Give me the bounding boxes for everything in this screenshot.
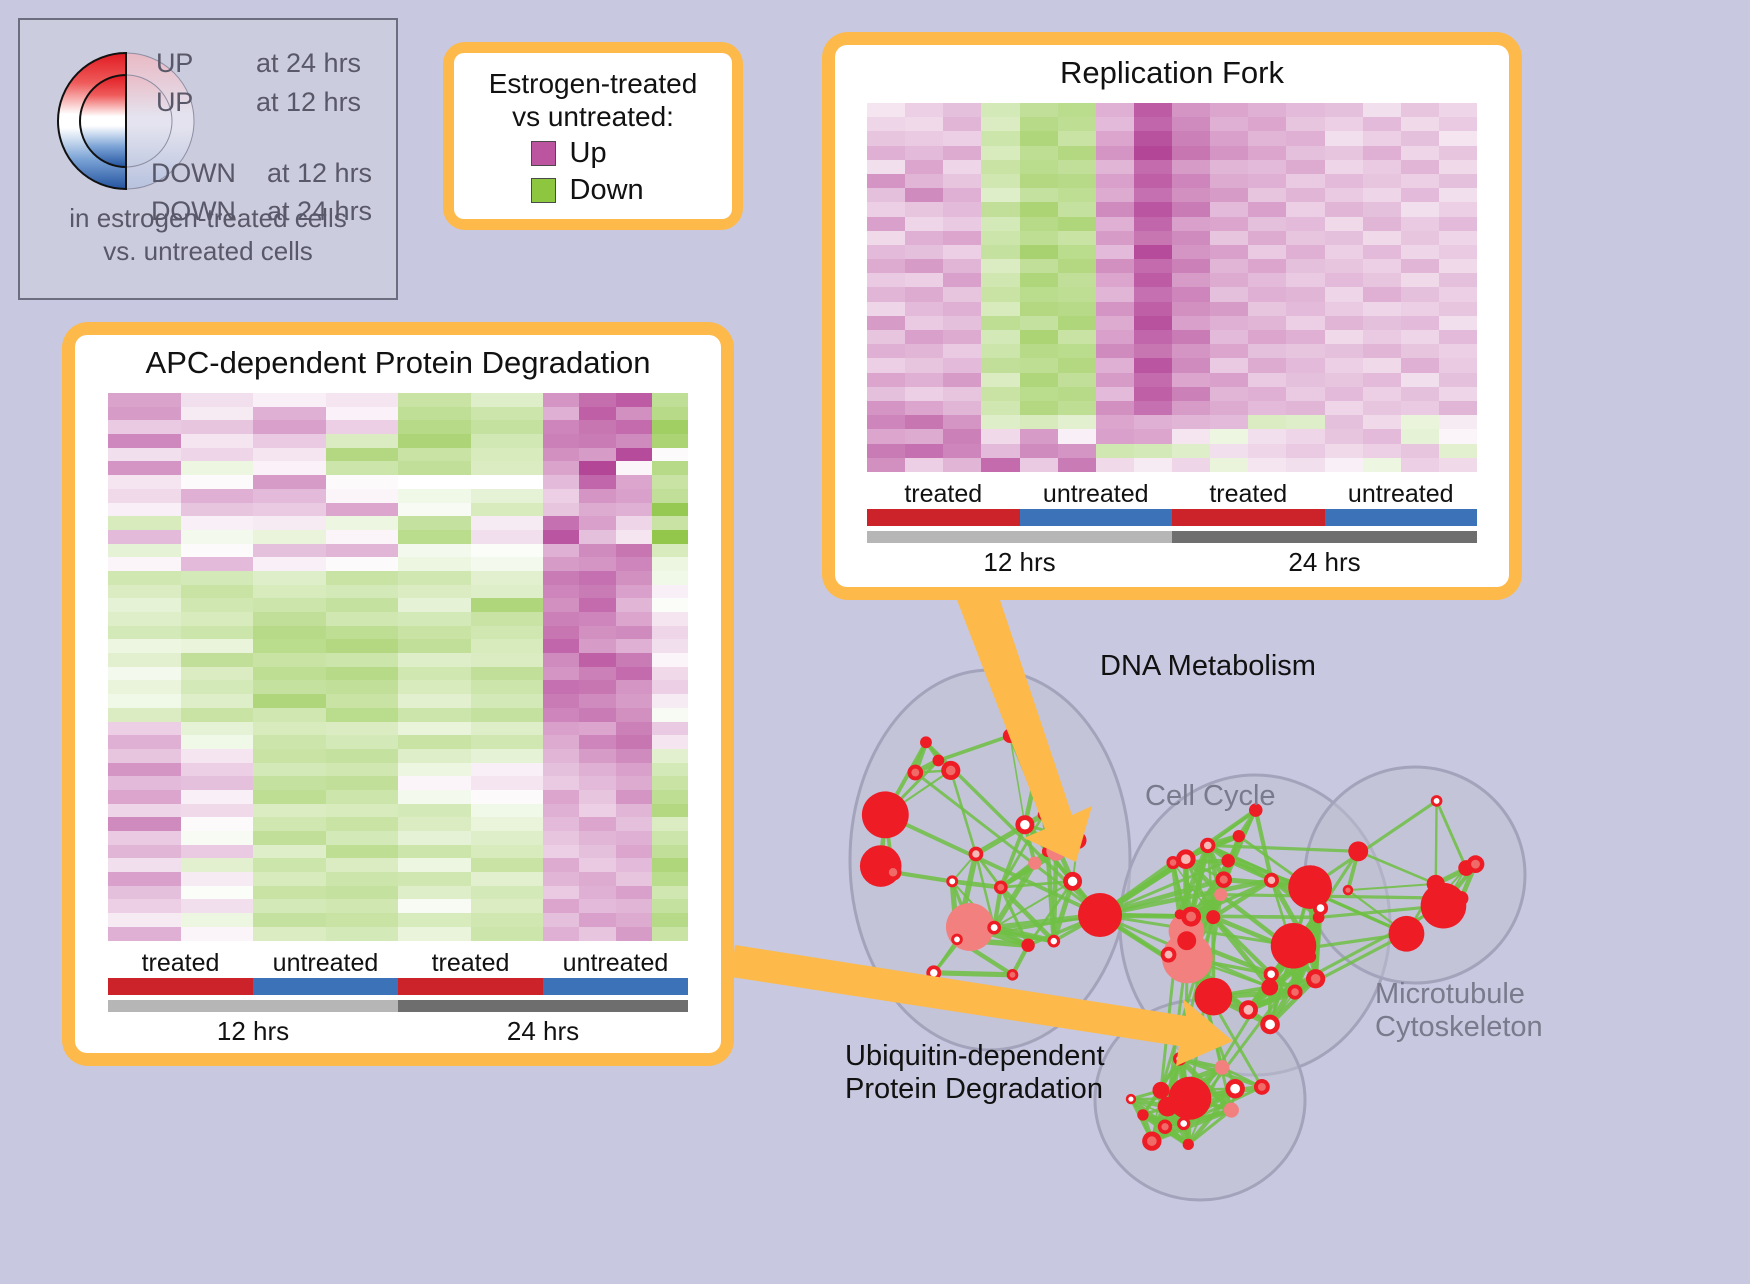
heatmap-cell [434, 776, 470, 790]
heatmap-cell [867, 401, 905, 415]
heatmap-cell [108, 489, 144, 503]
network-node [1183, 1139, 1194, 1150]
heatmap-cell [1020, 259, 1058, 273]
heatmap-cell [981, 415, 1019, 429]
heatmap-cell [1401, 458, 1439, 472]
heatmap-cell [1210, 287, 1248, 301]
heatmap-cell [326, 557, 362, 571]
heatmap-cell [1096, 429, 1134, 443]
heatmap-cell [1325, 273, 1363, 287]
network-node [1177, 931, 1196, 950]
heatmap-cell [398, 845, 434, 859]
network-node [1427, 875, 1445, 893]
heatmap-cell [1439, 330, 1477, 344]
heatmap-cell [1439, 373, 1477, 387]
heatmap-cell [471, 653, 507, 667]
heatmap-cell [1248, 103, 1286, 117]
heatmap-cell [289, 544, 325, 558]
heatmap-cell [1286, 330, 1324, 344]
network-node [1046, 841, 1066, 861]
heatmap-cell [144, 407, 180, 421]
heatmap-cell [289, 804, 325, 818]
heatmap-cell [289, 461, 325, 475]
heatmap-cell [1058, 273, 1096, 287]
heatmap-cell [108, 585, 144, 599]
heatmap-cell [507, 831, 543, 845]
heatmap-cell [507, 639, 543, 653]
heatmap-cell [471, 612, 507, 626]
time-label-24hrs: 24 hrs [398, 1012, 688, 1047]
network-node [1038, 809, 1049, 820]
heatmap-cell [543, 763, 579, 777]
heatmap-cell [253, 639, 289, 653]
heatmap-cell [507, 886, 543, 900]
heatmap-cell [652, 530, 688, 544]
heatmap-cell [1401, 401, 1439, 415]
heatmap-cell [579, 776, 615, 790]
heatmap-cell [1134, 245, 1172, 259]
heatmap-cell [253, 804, 289, 818]
heatmap-cell [543, 461, 579, 475]
treatment-bar-segment [108, 978, 253, 995]
heatmap-cell [1439, 302, 1477, 316]
heatmap-cell [326, 639, 362, 653]
heatmap-cell [326, 393, 362, 407]
heatmap-cell [1058, 231, 1096, 245]
heatmap-cell [181, 831, 217, 845]
heatmap-cell [616, 763, 652, 777]
heatmap-cell [943, 188, 981, 202]
heatmap-cell [144, 667, 180, 681]
heatmap-cell [543, 722, 579, 736]
wheel-ring-label-up-24: UP [156, 48, 193, 79]
heatmap-cell [905, 174, 943, 188]
heatmap-cell [144, 571, 180, 585]
heatmap-cell [1020, 316, 1058, 330]
heatmap-cell [1248, 202, 1286, 216]
heatmap-cell [1210, 429, 1248, 443]
heatmap-cell [434, 708, 470, 722]
time-bar-segment [398, 1000, 688, 1012]
heatmap-cell [1439, 217, 1477, 231]
heatmap-cell [652, 763, 688, 777]
heatmap-cell [905, 401, 943, 415]
heatmap-cell [289, 694, 325, 708]
network-node [1288, 945, 1298, 955]
heatmap-cell [1439, 231, 1477, 245]
heatmap-cell [1248, 117, 1286, 131]
heatmap-cell [543, 516, 579, 530]
network-node-core [1258, 1083, 1266, 1091]
heatmap-cell [652, 749, 688, 763]
heatmap-cell [507, 817, 543, 831]
heatmap-cell [943, 287, 981, 301]
heatmap-cell [362, 653, 398, 667]
heatmap-cell [217, 927, 253, 941]
heatmap-cell [507, 461, 543, 475]
heatmap-cell [905, 387, 943, 401]
heatmap-cell [905, 415, 943, 429]
heatmap-cell [362, 639, 398, 653]
heatmap-cell [144, 434, 180, 448]
heatmap-cell [144, 530, 180, 544]
heatmap-cell [543, 927, 579, 941]
heatmap-cell [1172, 273, 1210, 287]
heatmap-cell [981, 231, 1019, 245]
heatmap-cell [181, 763, 217, 777]
heatmap-cell [1248, 444, 1286, 458]
heatmap-cell [181, 503, 217, 517]
heatmap-cell [943, 387, 981, 401]
heatmap-cell [1210, 316, 1248, 330]
network-node [1137, 1109, 1148, 1120]
heatmap-cell [981, 358, 1019, 372]
heatmap-cell [362, 448, 398, 462]
heatmap-cell [362, 393, 398, 407]
heatmap-cell [1096, 330, 1134, 344]
treatment-bar-segment [1325, 509, 1478, 526]
heatmap-cell [579, 899, 615, 913]
heatmap-cell [1363, 458, 1401, 472]
heatmap-cell [1401, 103, 1439, 117]
heatmap-cell [289, 503, 325, 517]
heatmap-cell [1134, 401, 1172, 415]
time-bar-segment [867, 531, 1172, 543]
heatmap-cell [1096, 415, 1134, 429]
heatmap-cell [434, 667, 470, 681]
heatmap-cell [289, 489, 325, 503]
heatmap-cell [1363, 245, 1401, 259]
heatmap-cell [981, 273, 1019, 287]
heatmap-cell [398, 393, 434, 407]
heatmap-cell [398, 913, 434, 927]
heatmap-cell [543, 817, 579, 831]
heatmap-cell [1363, 401, 1401, 415]
heatmap-cell [616, 899, 652, 913]
heatmap-cell [253, 749, 289, 763]
heatmap-cell [1363, 358, 1401, 372]
network-node-core [972, 850, 979, 857]
heatmap-cell [1210, 330, 1248, 344]
heatmap-cell [144, 420, 180, 434]
heatmap-cell [253, 612, 289, 626]
heatmap-cell [108, 516, 144, 530]
estrogen-legend-header-line2: vs untreated: [470, 100, 716, 133]
heatmap-cell [144, 694, 180, 708]
heatmap-cell [1286, 217, 1324, 231]
heatmap-cell [652, 817, 688, 831]
heatmap-cell [434, 393, 470, 407]
heatmap-cell [1096, 387, 1134, 401]
heatmap-cell [434, 598, 470, 612]
heatmap-cell [1058, 146, 1096, 160]
network-node-core [1317, 904, 1325, 912]
heatmap-cell [1096, 373, 1134, 387]
heatmap-cell [253, 571, 289, 585]
heatmap-cell [1172, 146, 1210, 160]
heatmap-cell [434, 694, 470, 708]
time-label-12hrs: 12 hrs [867, 543, 1172, 578]
heatmap-cell [652, 845, 688, 859]
heatmap-cell [507, 722, 543, 736]
heatmap-cell [289, 516, 325, 530]
replication-fork-panel: Replication Fork treated untreated treat… [822, 32, 1522, 600]
heatmap-cell [1134, 373, 1172, 387]
heatmap-cell [144, 639, 180, 653]
heatmap-cell [434, 544, 470, 558]
heatmap-cell [652, 735, 688, 749]
heatmap-cell [616, 886, 652, 900]
heatmap-cell [326, 530, 362, 544]
heatmap-cell [289, 763, 325, 777]
network-node [1152, 1082, 1169, 1099]
wheel-caption: in estrogen-treated cells vs. untreated … [20, 202, 396, 267]
heatmap-cell [1401, 373, 1439, 387]
heatmap-cell [326, 598, 362, 612]
network-node [1389, 916, 1425, 952]
heatmap-cell [326, 831, 362, 845]
heatmap-cell [1363, 415, 1401, 429]
heatmap-cell [108, 899, 144, 913]
heatmap-cell [289, 858, 325, 872]
heatmap-cell [543, 489, 579, 503]
heatmap-cell [289, 831, 325, 845]
network-node-core [946, 766, 956, 776]
heatmap-cell [181, 858, 217, 872]
heatmap-cell [434, 612, 470, 626]
heatmap-cell [981, 245, 1019, 259]
heatmap-cell [507, 407, 543, 421]
heatmap-cell [1134, 103, 1172, 117]
heatmap-cell [289, 598, 325, 612]
treatment-bar-segment [398, 978, 543, 995]
heatmap-cell [1248, 287, 1286, 301]
heatmap-cell [108, 722, 144, 736]
heatmap-cell [362, 475, 398, 489]
heatmap-cell [507, 626, 543, 640]
heatmap-cell [434, 858, 470, 872]
network-node-core [1010, 972, 1016, 978]
network-node [1233, 830, 1245, 842]
heatmap-cell [1134, 160, 1172, 174]
legend-row-up: Up [470, 137, 716, 170]
heatmap-cell [579, 434, 615, 448]
heatmap-cell [1286, 202, 1324, 216]
heatmap-cell [362, 571, 398, 585]
heatmap-cell [1248, 330, 1286, 344]
heatmap-cell [289, 571, 325, 585]
heatmap-cell [1058, 202, 1096, 216]
heatmap-cell [981, 217, 1019, 231]
heatmap-cell [507, 927, 543, 941]
heatmap-cell [326, 817, 362, 831]
heatmap-cell [1058, 174, 1096, 188]
network-node [1214, 888, 1227, 901]
heatmap-cell [652, 790, 688, 804]
replication-fork-treatment-bar [867, 509, 1477, 526]
heatmap-cell [398, 448, 434, 462]
heatmap-cell [981, 373, 1019, 387]
heatmap-cell [108, 612, 144, 626]
heatmap-cell [543, 858, 579, 872]
heatmap-cell [1020, 444, 1058, 458]
heatmap-cell [1286, 302, 1324, 316]
heatmap-cell [1439, 259, 1477, 273]
heatmap-cell [471, 475, 507, 489]
apc-degradation-panel: APC-dependent Protein Degradation treate… [62, 322, 734, 1066]
heatmap-cell [217, 804, 253, 818]
heatmap-cell [108, 420, 144, 434]
heatmap-cell [434, 626, 470, 640]
heatmap-cell [1325, 387, 1363, 401]
network-node [1194, 978, 1232, 1016]
heatmap-cell [1363, 174, 1401, 188]
heatmap-cell [867, 387, 905, 401]
heatmap-cell [326, 461, 362, 475]
heatmap-cell [217, 667, 253, 681]
heatmap-cell [1248, 245, 1286, 259]
heatmap-cell [1058, 287, 1096, 301]
heatmap-cell [1058, 358, 1096, 372]
time-label-24hrs: 24 hrs [1172, 543, 1477, 578]
heatmap-cell [471, 749, 507, 763]
heatmap-cell [867, 202, 905, 216]
heatmap-cell [1286, 444, 1324, 458]
apc-treatment-bar [108, 978, 688, 995]
heatmap-cell [217, 722, 253, 736]
heatmap-cell [867, 358, 905, 372]
heatmap-cell [579, 503, 615, 517]
heatmap-cell [144, 544, 180, 558]
heatmap-cell [1020, 131, 1058, 145]
heatmap-cell [108, 804, 144, 818]
heatmap-cell [1172, 259, 1210, 273]
heatmap-cell [1363, 429, 1401, 443]
heatmap-cell [108, 776, 144, 790]
heatmap-cell [253, 845, 289, 859]
replication-fork-group-labels: treated untreated treated untreated [867, 480, 1477, 509]
heatmap-cell [1286, 231, 1324, 245]
estrogen-legend-header-line1: Estrogen-treated [470, 67, 716, 100]
heatmap-cell [1401, 358, 1439, 372]
time-bar-segment [1172, 531, 1477, 543]
heatmap-cell [434, 927, 470, 941]
heatmap-cell [253, 407, 289, 421]
heatmap-cell [144, 475, 180, 489]
heatmap-cell [289, 475, 325, 489]
apc-heatmap [108, 393, 688, 941]
heatmap-cell [579, 585, 615, 599]
heatmap-cell [1210, 458, 1248, 472]
heatmap-cell [181, 680, 217, 694]
estrogen-legend-header: Estrogen-treated vs untreated: [470, 67, 716, 133]
heatmap-cell [652, 407, 688, 421]
heatmap-cell [217, 749, 253, 763]
heatmap-cell [543, 749, 579, 763]
heatmap-cell [471, 667, 507, 681]
heatmap-cell [181, 694, 217, 708]
heatmap-cell [217, 653, 253, 667]
heatmap-cell [507, 516, 543, 530]
heatmap-cell [144, 722, 180, 736]
heatmap-cell [217, 845, 253, 859]
heatmap-cell [1248, 373, 1286, 387]
heatmap-cell [181, 461, 217, 475]
heatmap-cell [362, 817, 398, 831]
heatmap-cell [253, 776, 289, 790]
heatmap-cell [289, 722, 325, 736]
heatmap-cell [108, 598, 144, 612]
heatmap-cell [181, 420, 217, 434]
heatmap-cell [326, 872, 362, 886]
heatmap-cell [326, 516, 362, 530]
heatmap-cell [616, 831, 652, 845]
heatmap-cell [253, 735, 289, 749]
heatmap-cell [434, 516, 470, 530]
heatmap-cell [1325, 131, 1363, 145]
heatmap-cell [362, 776, 398, 790]
heatmap-cell [217, 530, 253, 544]
heatmap-cell [579, 475, 615, 489]
heatmap-cell [1134, 330, 1172, 344]
heatmap-cell [1363, 373, 1401, 387]
heatmap-cell [579, 749, 615, 763]
heatmap-cell [253, 516, 289, 530]
heatmap-cell [867, 429, 905, 443]
heatmap-cell [1439, 117, 1477, 131]
heatmap-cell [1401, 330, 1439, 344]
heatmap-cell [1363, 188, 1401, 202]
heatmap-cell [943, 444, 981, 458]
heatmap-cell [398, 571, 434, 585]
heatmap-cell [1286, 273, 1324, 287]
heatmap-cell [543, 872, 579, 886]
heatmap-cell [253, 598, 289, 612]
heatmap-cell [867, 117, 905, 131]
heatmap-cell [253, 557, 289, 571]
heatmap-cell [905, 103, 943, 117]
heatmap-cell [362, 680, 398, 694]
heatmap-cell [652, 899, 688, 913]
heatmap-cell [579, 831, 615, 845]
heatmap-cell [1248, 131, 1286, 145]
network-node [1028, 857, 1041, 870]
heatmap-cell [1439, 273, 1477, 287]
network-node-core [1161, 1123, 1168, 1130]
heatmap-cell [289, 913, 325, 927]
heatmap-cell [108, 530, 144, 544]
heatmap-cell [326, 626, 362, 640]
heatmap-cell [579, 913, 615, 927]
heatmap-cell [1172, 429, 1210, 443]
heatmap-cell [181, 639, 217, 653]
heatmap-cell [289, 407, 325, 421]
heatmap-cell [434, 557, 470, 571]
heatmap-cell [108, 886, 144, 900]
heatmap-cell [1172, 387, 1210, 401]
heatmap-cell [326, 489, 362, 503]
heatmap-cell [652, 461, 688, 475]
heatmap-cell [1286, 401, 1324, 415]
heatmap-cell [616, 544, 652, 558]
network-node-core [991, 924, 998, 931]
heatmap-cell [1210, 358, 1248, 372]
heatmap-cell [398, 831, 434, 845]
apc-time-bar [108, 1000, 688, 1012]
heatmap-cell [1020, 174, 1058, 188]
heatmap-cell [326, 434, 362, 448]
heatmap-cell [434, 872, 470, 886]
